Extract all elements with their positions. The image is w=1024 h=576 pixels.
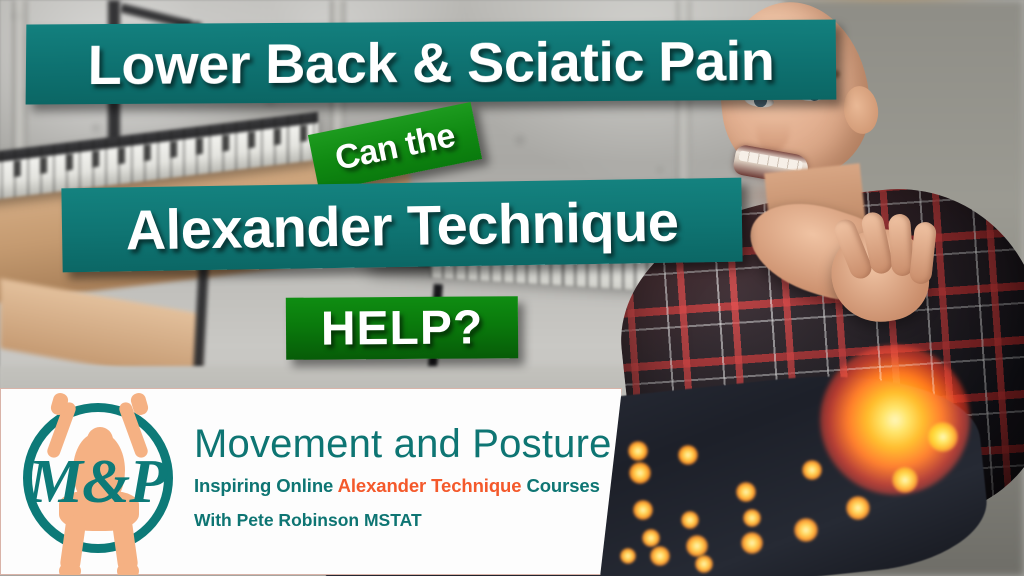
logo-figure-foot-left: [59, 563, 81, 576]
brand-tagline-after: Courses: [521, 475, 599, 496]
pain-hotspot-glow: [820, 345, 970, 495]
headline-banner-help: HELP?: [286, 296, 518, 360]
headline-line1-accent: Pain: [658, 27, 775, 93]
logo-figure-foot-right: [117, 563, 139, 576]
brand-text-block: Movement and Posture Inspiring Online Al…: [194, 423, 614, 531]
headline-line3: HELP?: [321, 300, 484, 356]
person-nose: [756, 108, 790, 152]
headline-line1-main: Lower Back & Sciatic: [87, 28, 644, 96]
logo-monogram: M&P: [11, 451, 183, 513]
brand-tagline-highlight: Alexander Technique: [338, 475, 522, 496]
brand-tagline-before: Inspiring Online: [194, 475, 338, 496]
brand-presenter: With Pete Robinson MSTAT: [194, 510, 614, 531]
brand-title: Movement and Posture: [194, 423, 614, 465]
logo-mark: M&P: [11, 395, 183, 567]
brand-logo-bar: M&P Movement and Posture Inspiring Onlin…: [0, 388, 622, 575]
headline-line2: Alexander Technique: [125, 188, 679, 262]
brand-tagline: Inspiring Online Alexander Technique Cou…: [194, 475, 614, 497]
headline-banner-alexander-technique: Alexander Technique: [61, 178, 742, 273]
headline-banner-primary: Lower Back & Sciatic Pain: [26, 20, 837, 105]
youtube-thumbnail: Lower Back & Sciatic Pain Can the Alexan…: [0, 0, 1024, 576]
